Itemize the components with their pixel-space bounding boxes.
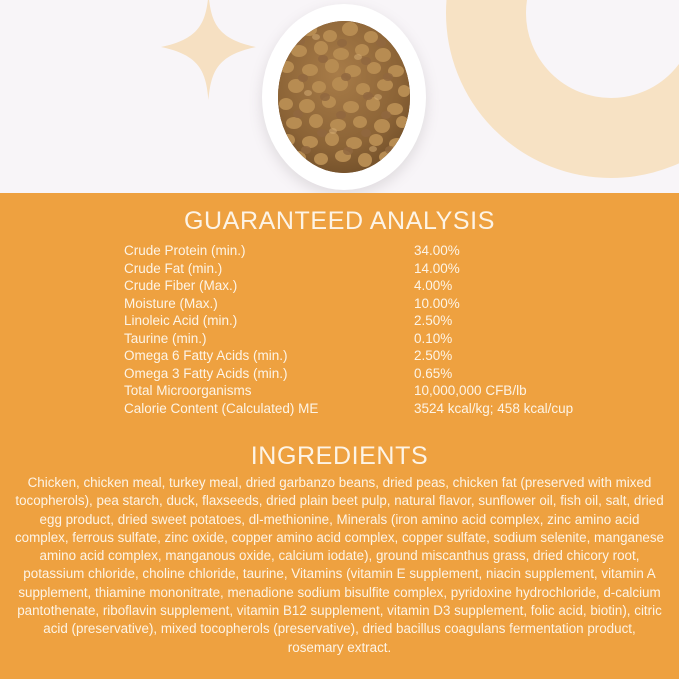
hero-image-area (0, 0, 679, 193)
table-row: Moisture (Max.) 10.00% (124, 295, 584, 313)
table-row: Calorie Content (Calculated) ME 3524 kca… (124, 400, 584, 418)
nutrient-value: 0.10% (414, 330, 452, 348)
nutrient-label: Crude Fiber (Max.) (124, 277, 414, 295)
table-row: Crude Fat (min.) 14.00% (124, 260, 584, 278)
nutrient-value: 2.50% (414, 347, 452, 365)
nutrient-value: 10.00% (414, 295, 460, 313)
nutrition-panel: GUARANTEED ANALYSIS Crude Protein (min.)… (0, 193, 679, 679)
kibble-bowl (262, 4, 426, 190)
table-row: Linoleic Acid (min.) 2.50% (124, 312, 584, 330)
guaranteed-analysis-title: GUARANTEED ANALYSIS (0, 207, 679, 236)
table-row: Omega 6 Fatty Acids (min.) 2.50% (124, 347, 584, 365)
table-row: Crude Fiber (Max.) 4.00% (124, 277, 584, 295)
table-row: Total Microorganisms 10,000,000 CFB/lb (124, 382, 584, 400)
sparkle-icon (161, 0, 256, 100)
nutrient-value: 34.00% (414, 242, 460, 260)
guaranteed-analysis-table: Crude Protein (min.) 34.00% Crude Fat (m… (124, 242, 584, 417)
nutrient-value: 10,000,000 CFB/lb (414, 382, 527, 400)
nutrient-label: Crude Fat (min.) (124, 260, 414, 278)
ingredients-title: INGREDIENTS (0, 442, 679, 471)
table-row: Taurine (min.) 0.10% (124, 330, 584, 348)
nutrient-label: Omega 3 Fatty Acids (min.) (124, 365, 414, 383)
product-info-panel: GUARANTEED ANALYSIS Crude Protein (min.)… (0, 0, 679, 679)
nutrient-label: Calorie Content (Calculated) ME (124, 400, 414, 418)
nutrient-label: Taurine (min.) (124, 330, 414, 348)
nutrient-value: 0.65% (414, 365, 452, 383)
ingredients-text: Chicken, chicken meal, turkey meal, drie… (14, 474, 665, 657)
nutrient-label: Moisture (Max.) (124, 295, 414, 313)
decorative-ring-shape (446, 0, 679, 178)
nutrient-value: 4.00% (414, 277, 452, 295)
nutrient-value: 2.50% (414, 312, 452, 330)
nutrient-value: 3524 kcal/kg; 458 kcal/cup (414, 400, 573, 418)
kibble-fill (278, 21, 410, 173)
nutrient-label: Total Microorganisms (124, 382, 414, 400)
nutrient-value: 14.00% (414, 260, 460, 278)
nutrient-label: Linoleic Acid (min.) (124, 312, 414, 330)
table-row: Crude Protein (min.) 34.00% (124, 242, 584, 260)
nutrient-label: Omega 6 Fatty Acids (min.) (124, 347, 414, 365)
table-row: Omega 3 Fatty Acids (min.) 0.65% (124, 365, 584, 383)
nutrient-label: Crude Protein (min.) (124, 242, 414, 260)
